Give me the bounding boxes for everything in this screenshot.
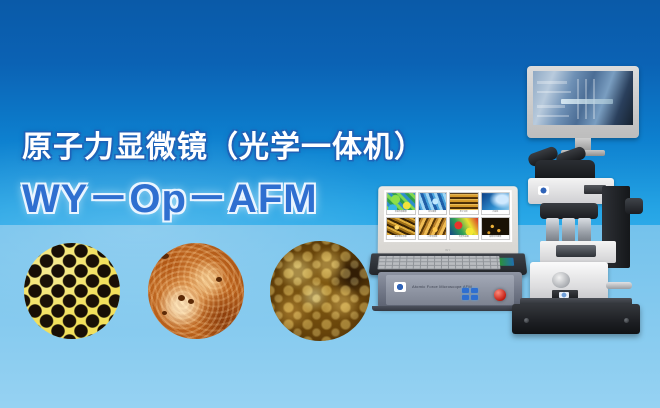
laptop-brand-label: WY	[445, 248, 450, 252]
base-screw	[624, 318, 629, 323]
sample-image-spiral-surface	[148, 243, 244, 339]
thumbnail-image: 三维形貌图	[417, 217, 447, 240]
banner-image: 原子力显微镜（光学一体机） WY－Op－AFM 表面形貌图像 相位图像 原子台阶…	[0, 0, 660, 408]
thumbnail-caption: 纳米颗粒形貌	[387, 235, 415, 239]
thumbnail-image: 相位图像	[418, 192, 447, 215]
thumbnail-image: 力曲线	[480, 192, 510, 215]
page-title: 原子力显微镜（光学一体机）	[22, 122, 425, 166]
microscope-stage	[540, 241, 616, 263]
status-led	[471, 295, 478, 300]
thumbnail-caption: 高度伪彩图	[450, 235, 478, 239]
stage-slot	[556, 245, 596, 257]
controller-led-group	[462, 288, 478, 300]
thumbnail-image: 表面形貌图像	[386, 192, 416, 215]
afm-controller-box: Atomic Force Microscope AFM	[378, 272, 522, 308]
focus-knob[interactable]	[625, 198, 643, 214]
thumbnail-caption: 磁畴结构图像	[482, 235, 510, 239]
controller-base-foot	[372, 306, 528, 311]
monitor-scan-line	[561, 99, 613, 104]
surface-pit	[160, 253, 169, 259]
model-number: WY－Op－AFM	[22, 166, 318, 224]
thumbnail-image: 高度伪彩图	[449, 217, 479, 240]
status-led	[462, 295, 469, 300]
laptop-screen: 表面形貌图像 相位图像 原子台阶 力曲线 纳米颗粒形貌 三维形貌图 高度伪彩图 …	[384, 190, 512, 242]
status-led	[462, 288, 469, 293]
microscope-logo-icon	[538, 186, 549, 195]
controller-logo-icon	[394, 282, 406, 292]
objective-turret	[540, 203, 598, 219]
thumbnail-image: 纳米颗粒形貌	[386, 217, 416, 240]
power-button[interactable]	[494, 289, 506, 301]
surface-pit	[162, 311, 167, 315]
thumbnail-caption: 原子台阶	[450, 210, 477, 214]
surface-pit	[216, 277, 222, 282]
granular-texture-layer-2	[270, 241, 370, 341]
thumbnail-caption: 力曲线	[481, 210, 508, 214]
dot-pattern-layer-offset	[24, 243, 120, 339]
thumbnail-caption: 三维形貌图	[418, 235, 446, 239]
monitor-screen	[533, 71, 633, 125]
base-screw	[524, 318, 529, 323]
stage-translation-rod	[606, 282, 632, 289]
laptop-keyboard	[377, 256, 500, 269]
thumbnail-caption: 表面形貌图像	[387, 210, 414, 214]
sample-image-dot-array	[24, 243, 120, 339]
sample-image-granular-gold	[270, 241, 370, 341]
scanner-adjust-knob[interactable]	[552, 272, 570, 288]
thumbnail-image: 原子台阶	[449, 192, 478, 215]
microscope-monitor	[527, 66, 639, 138]
surface-pit	[188, 299, 194, 304]
control-laptop-lid: 表面形貌图像 相位图像 原子台阶 力曲线 纳米颗粒形貌 三维形貌图 高度伪彩图 …	[378, 186, 519, 254]
surface-pit	[178, 295, 185, 301]
thumbnail-caption: 相位图像	[419, 210, 446, 214]
microscope-base	[512, 304, 640, 334]
thumbnail-image: 磁畴结构图像	[480, 217, 510, 240]
status-led	[471, 288, 478, 293]
laptop-touch-accent	[499, 258, 514, 266]
